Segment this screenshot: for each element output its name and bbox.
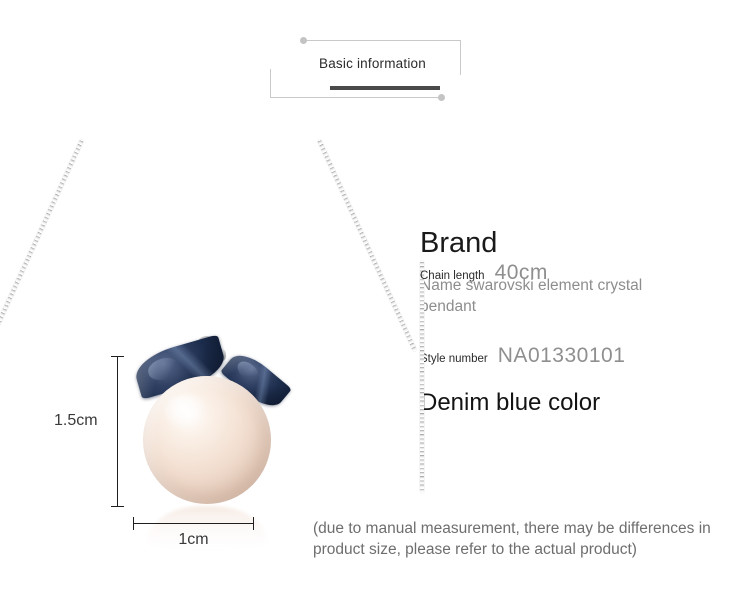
product-info-panel: Brand Name swarovski element crystal pen… <box>420 228 720 416</box>
height-dimension-label: 1.5cm <box>54 412 98 430</box>
section-title: Basic information <box>265 56 480 71</box>
style-number-value: NA01330101 <box>498 344 626 368</box>
banner-dot-top-left <box>300 37 307 44</box>
section-title-underline <box>330 86 440 90</box>
chain-strand-right <box>317 139 417 352</box>
chain-length-value: 40cm <box>495 261 548 285</box>
spec-chain-length: Chain length 40cm <box>420 261 424 493</box>
chain-length-label: Chain length <box>420 270 485 282</box>
brand-heading: Brand <box>420 228 720 260</box>
measurement-disclaimer: (due to manual measurement, there may be… <box>313 518 723 561</box>
height-dimension-cap-bottom <box>111 506 124 507</box>
banner-bottom-rule <box>287 97 443 98</box>
width-dimension-label: 1cm <box>133 531 254 549</box>
section-banner: Basic information <box>265 28 480 108</box>
height-dimension-cap-top <box>111 356 124 357</box>
product-detail-page: Basic information 1.5cm 1cm Brand Name s… <box>0 0 750 615</box>
width-dimension-cap-right <box>253 517 254 530</box>
banner-top-rule <box>303 40 443 41</box>
spec-style-number: Style number NA01330101 <box>420 344 720 368</box>
product-name: Name swarovski element crystal pendant <box>420 276 676 318</box>
pearl-bead <box>143 376 271 504</box>
pearl-highlight <box>164 394 208 428</box>
banner-corner-bottom-left <box>270 69 289 98</box>
width-dimension-line <box>133 523 254 524</box>
width-dimension-cap-left <box>133 517 134 530</box>
product-color: Denim blue color <box>420 390 720 416</box>
style-number-label: Style number <box>420 353 488 365</box>
product-image <box>20 140 390 540</box>
height-dimension-line <box>117 356 118 506</box>
chain-strand-left <box>0 139 84 352</box>
banner-dot-bottom-right <box>438 94 445 101</box>
